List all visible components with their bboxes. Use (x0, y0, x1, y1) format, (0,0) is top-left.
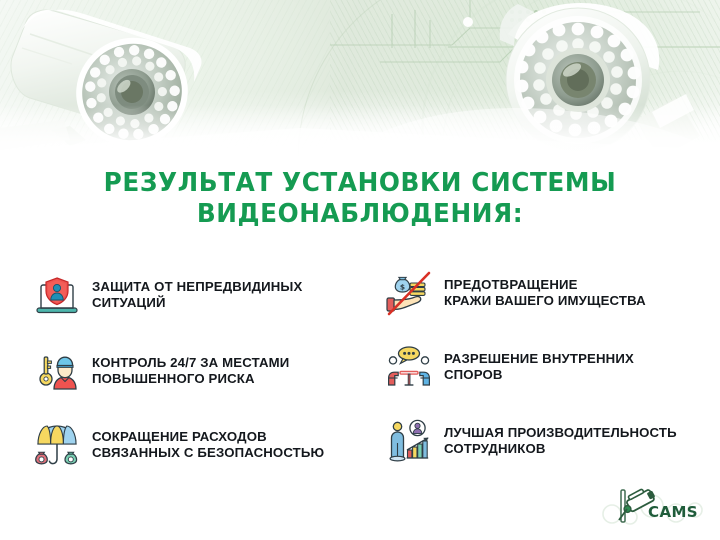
no-theft-hand-money-icon: $ (380, 264, 438, 322)
benefit-item-protection: ЗАЩИТА ОТ НЕПРЕДВИДИНЫХ СИТУАЦИЙ (28, 256, 368, 334)
benefits-column-left: ЗАЩИТА ОТ НЕПРЕДВИДИНЫХ СИТУАЦИЙ (28, 256, 368, 482)
benefit-label-dispute-resolution: РАЗРЕШЕНИЕ ВНУТРЕННИХ СПОРОВ (438, 351, 634, 384)
guard-with-key-icon (28, 342, 86, 400)
benefit-item-monitoring: КОНТРОЛЬ 24/7 ЗА МЕСТАМИ ПОВЫШЕННОГО РИС… (28, 334, 368, 408)
benefit-label-protection-l2: СИТУАЦИЙ (92, 295, 302, 312)
umbrella-money-bags-icon (28, 416, 86, 474)
benefit-label-protection: ЗАЩИТА ОТ НЕПРЕДВИДИНЫХ СИТУАЦИЙ (86, 279, 302, 312)
brand-logo-text: CAMS (648, 503, 698, 521)
benefit-label-monitoring-l1: КОНТРОЛЬ 24/7 ЗА МЕСТАМИ (92, 355, 289, 370)
page-title-line-2: ВИДЕОНАБЛЮДЕНИЯ: (11, 199, 709, 230)
benefit-label-productivity-l1: ЛУЧШАЯ ПРОИЗВОДИТЕЛЬНОСТЬ (444, 425, 677, 440)
benefit-label-theft-prevention-l2: КРАЖИ ВАШЕГО ИМУЩЕСТВА (444, 293, 646, 310)
poster-root: РЕЗУЛЬТАТ УСТАНОВКИ СИСТЕМЫ ВИДЕОНАБЛЮДЕ… (0, 0, 720, 540)
benefit-item-theft-prevention: $ ПРЕДОТВРАЩЕНИЕ КРАЖИ ВАШЕГО ИМУЩЕСТВА (380, 256, 708, 330)
benefit-item-dispute-resolution: РАЗРЕШЕНИЕ ВНУТРЕННИХ СПОРОВ (380, 330, 708, 404)
banner-bottom-fade (0, 105, 720, 165)
page-title: РЕЗУЛЬТАТ УСТАНОВКИ СИСТЕМЫ ВИДЕОНАБЛЮДЕ… (0, 168, 720, 230)
people-table-dialog-icon (380, 338, 438, 396)
laptop-shield-person-icon (28, 266, 86, 324)
benefit-item-productivity: ЛУЧШАЯ ПРОИЗВОДИТЕЛЬНОСТЬ СОТРУДНИКОВ (380, 404, 708, 478)
benefit-label-dispute-resolution-l1: РАЗРЕШЕНИЕ ВНУТРЕННИХ (444, 351, 634, 366)
cctv-hero-banner (0, 0, 720, 165)
benefits-grid: ЗАЩИТА ОТ НЕПРЕДВИДИНЫХ СИТУАЦИЙ (0, 256, 720, 482)
page-title-line-1: РЕЗУЛЬТАТ УСТАНОВКИ СИСТЕМЫ (11, 168, 709, 199)
employee-growth-chart-icon (380, 412, 438, 470)
benefit-label-cost-reduction: СОКРАЩЕНИЕ РАСХОДОВ СВЯЗАННЫХ С БЕЗОПАСН… (86, 429, 324, 462)
benefit-label-productivity: ЛУЧШАЯ ПРОИЗВОДИТЕЛЬНОСТЬ СОТРУДНИКОВ (438, 425, 677, 458)
benefit-label-dispute-resolution-l2: СПОРОВ (444, 367, 634, 384)
benefit-label-cost-reduction-l2: СВЯЗАННЫХ С БЕЗОПАСНОСТЬЮ (92, 445, 324, 462)
benefit-label-productivity-l2: СОТРУДНИКОВ (444, 441, 677, 458)
benefit-label-theft-prevention: ПРЕДОТВРАЩЕНИЕ КРАЖИ ВАШЕГО ИМУЩЕСТВА (438, 277, 646, 310)
benefit-label-monitoring: КОНТРОЛЬ 24/7 ЗА МЕСТАМИ ПОВЫШЕННОГО РИС… (86, 355, 289, 388)
benefit-label-monitoring-l2: ПОВЫШЕННОГО РИСКА (92, 371, 289, 388)
benefit-label-theft-prevention-l1: ПРЕДОТВРАЩЕНИЕ (444, 277, 578, 292)
benefit-label-cost-reduction-l1: СОКРАЩЕНИЕ РАСХОДОВ (92, 429, 267, 444)
svg-text:$: $ (400, 282, 405, 291)
brand-logo[interactable]: CAMS (600, 484, 704, 530)
benefit-item-cost-reduction: СОКРАЩЕНИЕ РАСХОДОВ СВЯЗАННЫХ С БЕЗОПАСН… (28, 408, 368, 482)
benefit-label-protection-l1: ЗАЩИТА ОТ НЕПРЕДВИДИНЫХ (92, 279, 302, 294)
benefits-column-right: $ ПРЕДОТВРАЩЕНИЕ КРАЖИ ВАШЕГО ИМУЩЕСТВА (368, 256, 708, 482)
